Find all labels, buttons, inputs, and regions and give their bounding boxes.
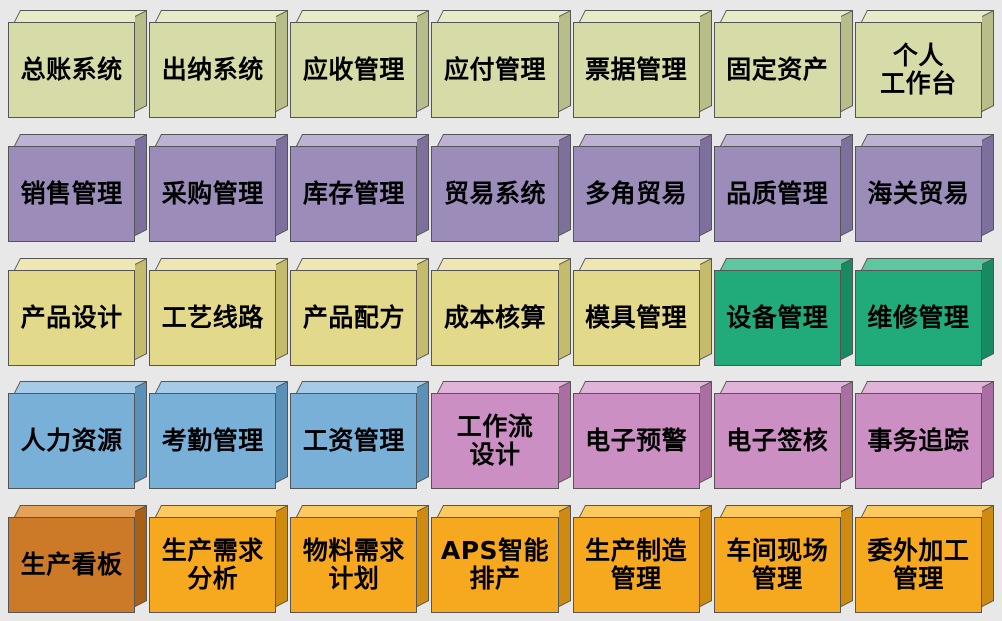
block-front-face[interactable]: 固定资产	[714, 22, 841, 118]
module-label: 工艺线路	[162, 304, 264, 332]
module-label: APS智能 排产	[441, 537, 549, 593]
block-side-face	[417, 10, 429, 112]
block-front-face[interactable]: 生产制造 管理	[573, 517, 700, 613]
block-top-face	[14, 134, 147, 146]
module-block[interactable]: 库存管理	[290, 134, 429, 242]
module-block[interactable]: 生产需求 分析	[149, 505, 288, 613]
block-side-face	[841, 505, 853, 607]
module-label: 委外加工 管理	[867, 537, 969, 593]
block-top-face	[861, 258, 994, 270]
block-side-face	[841, 257, 853, 359]
block-top-face	[720, 505, 853, 517]
block-top-face	[296, 258, 429, 270]
module-label: 采购管理	[162, 180, 264, 208]
module-label: 生产需求 分析	[162, 537, 264, 593]
block-front-face[interactable]: 产品设计	[8, 270, 135, 366]
module-label: 设备管理	[726, 304, 828, 332]
module-label: 电子预警	[585, 427, 687, 455]
block-side-face	[417, 505, 429, 607]
block-front-face[interactable]: 模具管理	[573, 270, 700, 366]
module-block[interactable]: 应付管理	[431, 10, 570, 118]
module-block[interactable]: 出纳系统	[149, 10, 288, 118]
module-diagram: 总账系统出纳系统应收管理应付管理票据管理固定资产个人 工作台销售管理采购管理库存…	[0, 0, 1002, 621]
block-front-face[interactable]: 票据管理	[573, 22, 700, 118]
module-label: 模具管理	[585, 304, 687, 332]
module-label: 海关贸易	[867, 180, 969, 208]
block-front-face[interactable]: 事务追踪	[855, 393, 982, 489]
block-top-face	[579, 134, 712, 146]
block-front-face[interactable]: 车间现场 管理	[714, 517, 841, 613]
block-front-face[interactable]: 工艺线路	[149, 270, 276, 366]
block-side-face	[982, 381, 994, 483]
block-side-face	[276, 257, 288, 359]
block-front-face[interactable]: 电子预警	[573, 393, 700, 489]
module-block[interactable]: 车间现场 管理	[714, 505, 853, 613]
block-side-face	[841, 381, 853, 483]
block-top-face	[14, 258, 147, 270]
block-front-face[interactable]: APS智能 排产	[431, 517, 558, 613]
module-block[interactable]: 个人 工作台	[855, 10, 994, 118]
module-label: 成本核算	[444, 304, 546, 332]
block-side-face	[559, 10, 571, 112]
module-label: 工资管理	[303, 427, 405, 455]
module-block[interactable]: 物料需求 计划	[290, 505, 429, 613]
module-block[interactable]: 固定资产	[714, 10, 853, 118]
module-label: 贸易系统	[444, 180, 546, 208]
block-side-face	[559, 134, 571, 236]
block-top-face	[296, 10, 429, 22]
block-side-face	[135, 10, 147, 112]
module-label: 销售管理	[21, 180, 123, 208]
module-block[interactable]: 电子预警	[573, 381, 712, 489]
module-block[interactable]: 生产看板	[8, 505, 147, 613]
block-top-face	[579, 505, 712, 517]
module-block[interactable]: 海关贸易	[855, 134, 994, 242]
module-block[interactable]: 多角贸易	[573, 134, 712, 242]
block-top-face	[296, 381, 429, 393]
block-front-face[interactable]: 贸易系统	[431, 146, 558, 242]
module-label: 考勤管理	[162, 427, 264, 455]
block-side-face	[135, 134, 147, 236]
module-label: 库存管理	[303, 180, 405, 208]
block-front-face[interactable]: 总账系统	[8, 22, 135, 118]
module-label: 维修管理	[867, 304, 969, 332]
module-block[interactable]: 工作流 设计	[431, 381, 570, 489]
module-label: 车间现场 管理	[726, 537, 828, 593]
block-top-face	[861, 381, 994, 393]
block-front-face[interactable]: 设备管理	[714, 270, 841, 366]
block-top-face	[861, 505, 994, 517]
block-side-face	[417, 134, 429, 236]
module-block[interactable]: 成本核算	[431, 258, 570, 366]
block-front-face[interactable]: 电子签核	[714, 393, 841, 489]
block-front-face[interactable]: 成本核算	[431, 270, 558, 366]
block-front-face[interactable]: 考勤管理	[149, 393, 276, 489]
block-side-face	[417, 257, 429, 359]
module-block[interactable]: 工资管理	[290, 381, 429, 489]
module-label: 个人 工作台	[880, 42, 957, 98]
block-side-face	[841, 10, 853, 112]
block-top-face	[720, 134, 853, 146]
block-side-face	[276, 381, 288, 483]
module-block[interactable]: 销售管理	[8, 134, 147, 242]
block-top-face	[861, 134, 994, 146]
block-front-face[interactable]: 应付管理	[431, 22, 558, 118]
block-front-face[interactable]: 工资管理	[290, 393, 417, 489]
block-side-face	[841, 134, 853, 236]
block-side-face	[700, 10, 712, 112]
block-side-face	[982, 505, 994, 607]
block-side-face	[276, 134, 288, 236]
block-side-face	[982, 10, 994, 112]
module-row-design-equipment: 产品设计工艺线路产品配方成本核算模具管理设备管理维修管理	[8, 258, 994, 366]
block-front-face[interactable]: 个人 工作台	[855, 22, 982, 118]
block-side-face	[559, 505, 571, 607]
block-top-face	[437, 10, 570, 22]
module-label: 物料需求 计划	[303, 537, 405, 593]
module-block[interactable]: 维修管理	[855, 258, 994, 366]
module-block[interactable]: 采购管理	[149, 134, 288, 242]
block-side-face	[135, 505, 147, 607]
module-block[interactable]: 生产制造 管理	[573, 505, 712, 613]
block-side-face	[559, 257, 571, 359]
block-top-face	[14, 381, 147, 393]
block-top-face	[155, 134, 288, 146]
module-label: 电子签核	[726, 427, 828, 455]
module-block[interactable]: 品质管理	[714, 134, 853, 242]
block-front-face[interactable]: 多角贸易	[573, 146, 700, 242]
module-label: 工作流 设计	[457, 413, 534, 469]
module-label: 事务追踪	[867, 427, 969, 455]
block-front-face[interactable]: 生产看板	[8, 517, 135, 613]
module-label: 品质管理	[726, 180, 828, 208]
block-top-face	[155, 10, 288, 22]
block-side-face	[135, 381, 147, 483]
block-front-face[interactable]: 品质管理	[714, 146, 841, 242]
block-top-face	[437, 505, 570, 517]
block-front-face[interactable]: 应收管理	[290, 22, 417, 118]
block-front-face[interactable]: 海关贸易	[855, 146, 982, 242]
module-label: 总账系统	[21, 56, 123, 84]
block-side-face	[982, 134, 994, 236]
block-front-face[interactable]: 出纳系统	[149, 22, 276, 118]
module-block[interactable]: 贸易系统	[431, 134, 570, 242]
module-label: 应收管理	[303, 56, 405, 84]
module-block[interactable]: 事务追踪	[855, 381, 994, 489]
module-block[interactable]: 工艺线路	[149, 258, 288, 366]
block-side-face	[700, 381, 712, 483]
block-top-face	[437, 134, 570, 146]
block-front-face[interactable]: 工作流 设计	[431, 393, 558, 489]
block-top-face	[437, 258, 570, 270]
module-block[interactable]: 票据管理	[573, 10, 712, 118]
block-side-face	[700, 134, 712, 236]
module-block[interactable]: 考勤管理	[149, 381, 288, 489]
block-side-face	[135, 257, 147, 359]
module-block[interactable]: APS智能 排产	[431, 505, 570, 613]
block-side-face	[982, 257, 994, 359]
block-side-face	[417, 381, 429, 483]
module-block[interactable]: 模具管理	[573, 258, 712, 366]
module-label: 票据管理	[585, 56, 687, 84]
block-top-face	[155, 381, 288, 393]
module-block[interactable]: 电子签核	[714, 381, 853, 489]
block-side-face	[700, 505, 712, 607]
block-top-face	[296, 505, 429, 517]
module-block[interactable]: 总账系统	[8, 10, 147, 118]
block-front-face[interactable]: 库存管理	[290, 146, 417, 242]
block-side-face	[700, 257, 712, 359]
block-top-face	[720, 381, 853, 393]
block-side-face	[276, 505, 288, 607]
block-top-face	[14, 10, 147, 22]
block-top-face	[296, 134, 429, 146]
module-block[interactable]: 委外加工 管理	[855, 505, 994, 613]
block-top-face	[720, 10, 853, 22]
module-label: 出纳系统	[162, 56, 264, 84]
block-side-face	[559, 381, 571, 483]
block-front-face[interactable]: 物料需求 计划	[290, 517, 417, 613]
block-front-face[interactable]: 采购管理	[149, 146, 276, 242]
block-front-face[interactable]: 人力资源	[8, 393, 135, 489]
block-top-face	[579, 10, 712, 22]
block-front-face[interactable]: 生产需求 分析	[149, 517, 276, 613]
module-label: 人力资源	[21, 427, 123, 455]
block-front-face[interactable]: 产品配方	[290, 270, 417, 366]
block-top-face	[720, 258, 853, 270]
block-front-face[interactable]: 维修管理	[855, 270, 982, 366]
module-block[interactable]: 人力资源	[8, 381, 147, 489]
module-label: 生产制造 管理	[585, 537, 687, 593]
block-top-face	[437, 381, 570, 393]
module-label: 产品设计	[21, 304, 123, 332]
block-side-face	[276, 10, 288, 112]
block-top-face	[155, 258, 288, 270]
block-top-face	[861, 10, 994, 22]
module-label: 应付管理	[444, 56, 546, 84]
module-row-production: 生产看板生产需求 分析物料需求 计划APS智能 排产生产制造 管理车间现场 管理…	[8, 505, 994, 613]
module-block[interactable]: 应收管理	[290, 10, 429, 118]
module-label: 产品配方	[303, 304, 405, 332]
block-front-face[interactable]: 委外加工 管理	[855, 517, 982, 613]
module-block[interactable]: 产品设计	[8, 258, 147, 366]
module-label: 固定资产	[726, 56, 828, 84]
block-top-face	[579, 258, 712, 270]
block-top-face	[155, 505, 288, 517]
block-front-face[interactable]: 销售管理	[8, 146, 135, 242]
module-row-hr-workflow: 人力资源考勤管理工资管理工作流 设计电子预警电子签核事务追踪	[8, 381, 994, 489]
module-label: 多角贸易	[585, 180, 687, 208]
module-label: 生产看板	[21, 551, 123, 579]
module-row-supply-chain: 销售管理采购管理库存管理贸易系统多角贸易品质管理海关贸易	[8, 134, 994, 242]
block-top-face	[579, 381, 712, 393]
module-row-finance: 总账系统出纳系统应收管理应付管理票据管理固定资产个人 工作台	[8, 10, 994, 118]
block-top-face	[14, 505, 147, 517]
module-block[interactable]: 产品配方	[290, 258, 429, 366]
module-block[interactable]: 设备管理	[714, 258, 853, 366]
